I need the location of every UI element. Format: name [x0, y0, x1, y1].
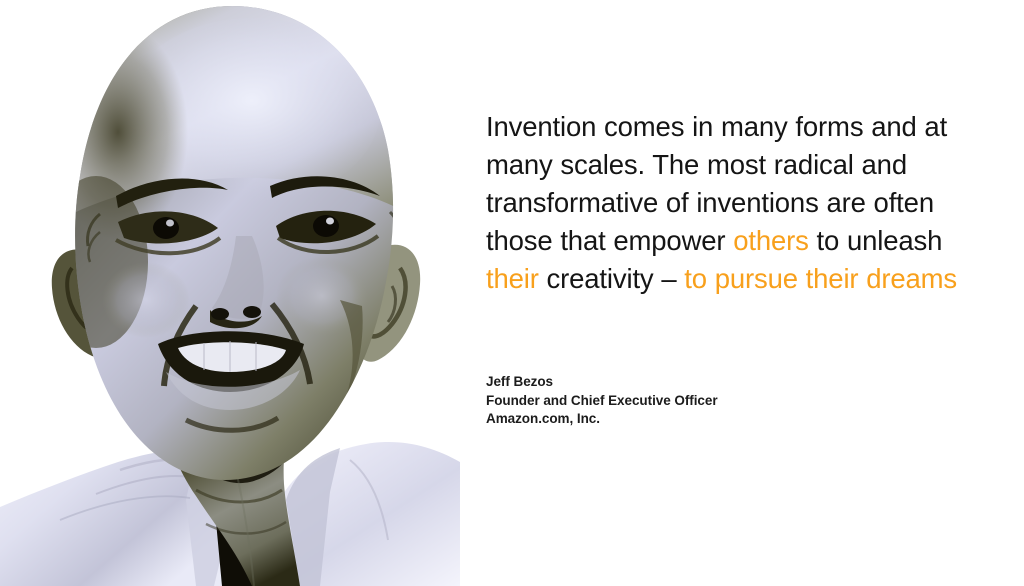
attribution-block: Jeff Bezos Founder and Chief Executive O… [486, 373, 926, 429]
quote-accent-others: others [733, 225, 809, 256]
quote-part-2: to unleash [809, 225, 943, 256]
quote-slide: Invention comes in many forms and at man… [0, 0, 1024, 586]
quote-accent-their: their [486, 263, 539, 294]
quote-block: Invention comes in many forms and at man… [486, 108, 986, 298]
eye-catchlight-right [326, 218, 334, 225]
quote-part-3: creativity – [539, 263, 685, 294]
quote-text: Invention comes in many forms and at man… [486, 108, 986, 298]
portrait-image [0, 0, 460, 586]
nostril-left [211, 308, 229, 320]
quote-accent-to-pursue-their-dreams: to pursue their dreams [684, 263, 957, 294]
nostril-right [243, 306, 261, 318]
cheek-highlight-left [102, 262, 190, 338]
attribution-company: Amazon.com, Inc. [486, 410, 926, 429]
portrait-illustration [0, 0, 460, 586]
pupil-left [153, 217, 179, 239]
attribution-title: Founder and Chief Executive Officer [486, 392, 926, 411]
eye-catchlight-left [166, 220, 174, 227]
pupil-right [313, 215, 339, 237]
attribution-name: Jeff Bezos [486, 373, 926, 392]
